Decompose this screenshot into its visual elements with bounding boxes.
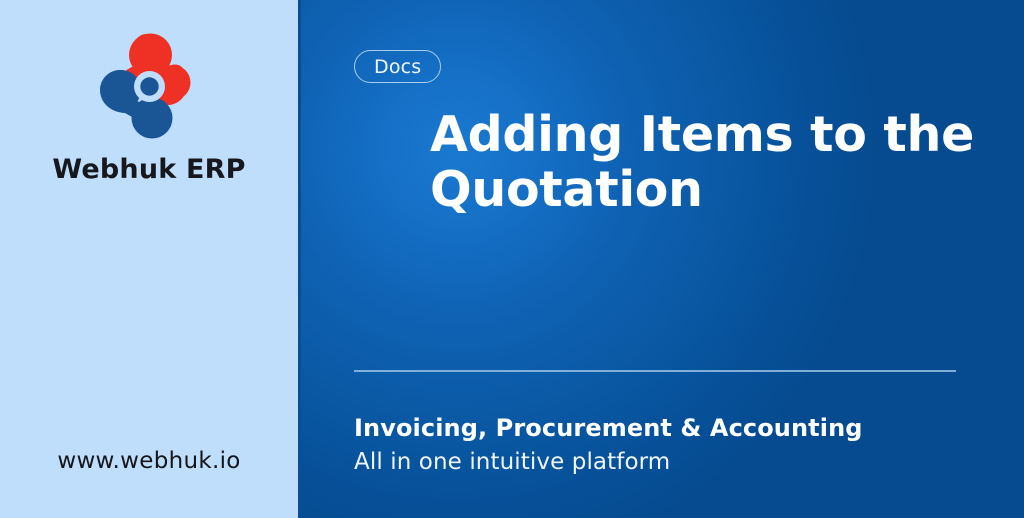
docs-badge[interactable]: Docs — [354, 50, 441, 83]
brand-panel: Webhuk ERP www.webhuk.io — [0, 0, 298, 518]
footer-tagline-block: Invoicing, Procurement & Accounting All … — [354, 412, 974, 478]
brand-url: www.webhuk.io — [0, 448, 298, 474]
tagline-primary: Invoicing, Procurement & Accounting — [354, 412, 974, 444]
page-title: Adding Items to the Quotation — [430, 108, 990, 218]
molecule-nodes-icon — [90, 28, 208, 146]
tagline-secondary: All in one intuitive platform — [354, 448, 974, 478]
brand-name: Webhuk ERP — [52, 154, 245, 185]
panel-divider-edge — [298, 0, 301, 518]
horizontal-rule — [354, 370, 956, 372]
brand-logo-block: Webhuk ERP — [52, 28, 245, 185]
docs-banner: Webhuk ERP www.webhuk.io Docs Adding Ite… — [0, 0, 1024, 518]
content-panel: Docs Adding Items to the Quotation Invoi… — [298, 0, 1024, 518]
